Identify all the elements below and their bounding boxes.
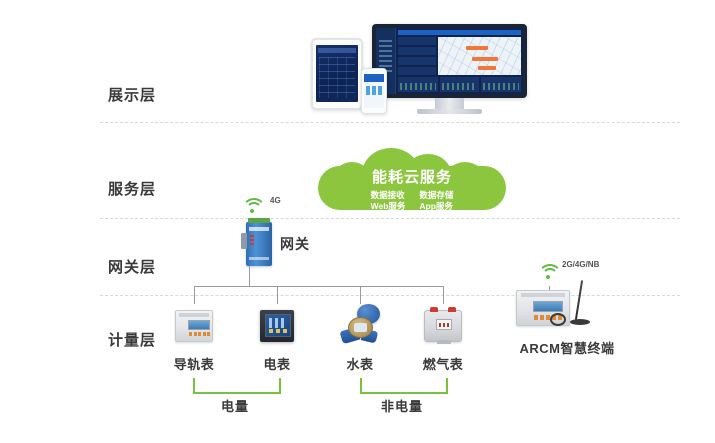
meter-water: 水表 <box>325 302 395 373</box>
cloud-item-data-receive: 数据接收 <box>371 190 406 201</box>
connector-gateway-trunk <box>249 266 250 286</box>
dashboard-stat-cards <box>398 37 436 75</box>
bracket-non-electricity <box>360 378 448 394</box>
layer-label-gateway: 网关层 <box>108 256 184 277</box>
din-rail-meter-icon <box>159 302 229 350</box>
cloud-title: 能耗云服务 <box>318 166 506 187</box>
display-layer-devices <box>300 8 540 116</box>
bracket-electricity-label: 电量 <box>193 396 277 415</box>
dashboard-topbar <box>398 30 521 35</box>
layer-label-display: 展示层 <box>108 84 184 105</box>
wifi-signal-icon <box>242 196 264 214</box>
meter-gas: 燃气表 <box>408 302 478 373</box>
gateway-name-label: 网关 <box>280 234 310 254</box>
tablet-screen <box>316 45 358 102</box>
gateway-icon <box>246 222 272 266</box>
meter-gas-label: 燃气表 <box>408 354 478 373</box>
divider-service-gateway <box>100 218 680 219</box>
wifi-signal-icon <box>538 262 560 280</box>
panel-electric-meter-icon <box>242 302 312 350</box>
cloud-items-left: 数据接收 Web服务 <box>371 190 406 212</box>
dashboard-map-panel <box>438 37 521 75</box>
cloud-items-right: 数据存储 App服务 <box>419 190 453 212</box>
dashboard-chart-row <box>398 77 521 92</box>
gateway-network-label: 4G <box>270 196 281 205</box>
bracket-electricity <box>193 378 281 394</box>
arcm-terminal-group: 2G/4G/NB ARCM智慧终端 <box>500 262 630 372</box>
monitor-stand-neck <box>435 98 464 109</box>
antenna-cable <box>550 313 566 326</box>
tablet-icon <box>311 38 363 110</box>
desktop-monitor-icon <box>372 24 527 114</box>
layer-label-service: 服务层 <box>108 178 184 199</box>
divider-display-service <box>100 122 680 123</box>
meter-electric-label: 电表 <box>242 354 312 373</box>
meter-din-rail: 导轨表 <box>159 302 229 373</box>
cloud-item-app-service: App服务 <box>419 201 453 212</box>
meter-electric: 电表 <box>242 302 312 373</box>
smartphone-icon <box>361 68 387 114</box>
arcm-terminal-label: ARCM智慧终端 <box>492 338 642 357</box>
energy-cloud-service: 能耗云服务 数据接收 Web服务 数据存储 App服务 <box>318 148 506 210</box>
monitor-stand-base <box>417 109 482 114</box>
dashboard-main <box>396 28 523 94</box>
antenna-base <box>570 319 590 325</box>
phone-screen <box>364 74 384 108</box>
antenna-icon <box>575 280 583 320</box>
connector-bus <box>194 286 443 287</box>
gas-meter-icon <box>408 302 478 350</box>
bracket-non-electricity-label: 非电量 <box>360 396 444 415</box>
monitor-screen <box>376 28 523 94</box>
dashboard-body <box>398 37 521 75</box>
arcm-network-label: 2G/4G/NB <box>562 260 599 269</box>
meter-din-rail-label: 导轨表 <box>159 354 229 373</box>
monitor-bezel <box>372 24 527 98</box>
cloud-item-data-storage: 数据存储 <box>419 190 453 201</box>
meter-water-label: 水表 <box>325 354 395 373</box>
cloud-item-web-service: Web服务 <box>371 201 406 212</box>
water-meter-icon <box>325 302 395 350</box>
